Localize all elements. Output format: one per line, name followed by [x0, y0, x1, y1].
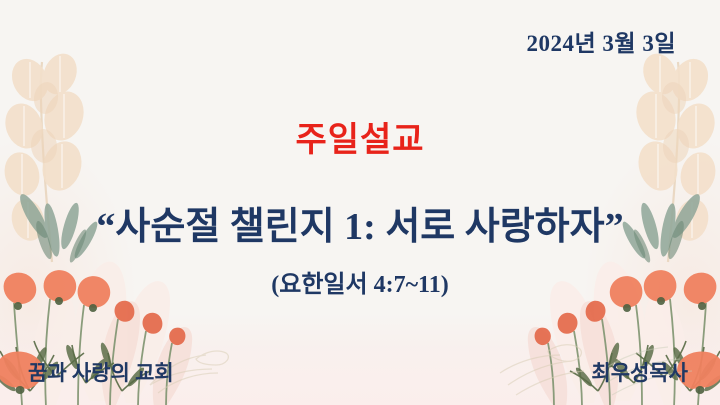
slide-church-name: 꿈과 사랑의 교회 [28, 357, 174, 387]
slide-main-title: “사순절 챌린지 1: 서로 사랑하자” [0, 195, 720, 250]
slide-date: 2024년 3월 3일 [527, 24, 676, 58]
slide-preacher-name: 최우성목사 [591, 357, 688, 387]
sermon-slide: 2024년 3월 3일 주일설교 “사순절 챌린지 1: 서로 사랑하자” (요… [0, 0, 720, 405]
slide-scripture-reference: (요한일서 4:7~11) [0, 264, 720, 299]
slide-kicker: 주일설교 [0, 112, 720, 161]
